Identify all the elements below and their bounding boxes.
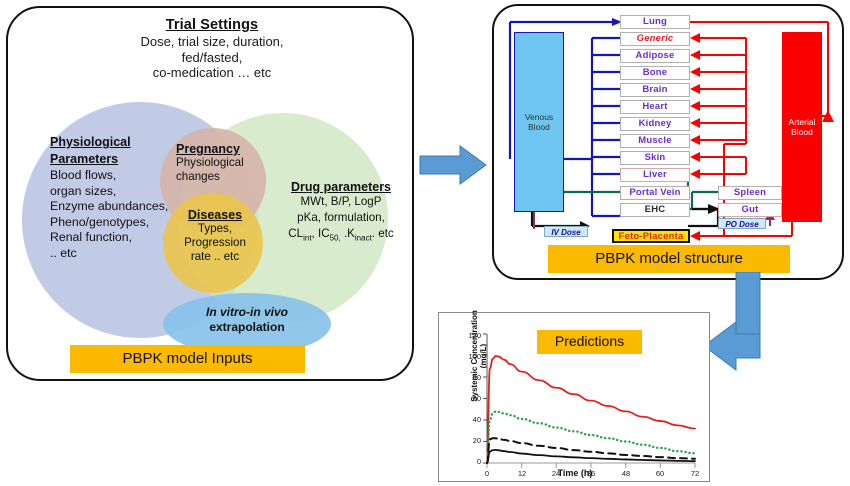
- physiological-item-1: organ sizes,: [50, 184, 200, 200]
- series-red-solid: [487, 356, 695, 463]
- predictions-caption: Predictions: [537, 330, 642, 354]
- clint-sub: int: [303, 233, 311, 242]
- pregnancy-header: Pregnancy: [176, 142, 266, 156]
- pregnancy-item-0: Physiological: [176, 156, 266, 170]
- ivive-line-1: In vitro-in vivo: [168, 305, 326, 320]
- pbpk-inputs-caption: PBPK model Inputs: [70, 345, 305, 373]
- venn-diagram: Physiological Parameters Blood flows, or…: [8, 8, 416, 383]
- venous-blood-compartment: Venous Blood: [514, 32, 564, 212]
- organ-box-lung[interactable]: Lung: [620, 15, 690, 29]
- kinact-sub: inact: [355, 233, 372, 242]
- diseases-text: Diseases Types, Progression rate .. etc: [171, 208, 259, 264]
- organ-box-kidney[interactable]: Kidney: [620, 117, 690, 131]
- iv-dose-box[interactable]: IV Dose: [544, 226, 588, 237]
- organ-box-liver[interactable]: Liver: [620, 168, 690, 182]
- kinact-text: .K: [341, 227, 355, 240]
- ic-sub: 50,: [330, 233, 341, 242]
- organ-box-bone[interactable]: Bone: [620, 66, 690, 80]
- organ-box-gut[interactable]: Gut: [718, 203, 782, 217]
- chart-x-axis-label: Time (h): [439, 468, 711, 478]
- organ-box-feto-placenta[interactable]: Feto-Placenta: [612, 229, 690, 243]
- ic-text: , IC: [312, 227, 330, 240]
- venous-blood-label: Venous Blood: [515, 112, 563, 132]
- drug-parameters-text: Drug parameters MWt, B/P, LogP pKa, form…: [270, 180, 412, 246]
- diseases-header: Diseases: [171, 208, 259, 222]
- pbpk-inputs-panel: Trial Settings Dose, trial size, duratio…: [6, 6, 414, 381]
- series-green-dotted: [487, 411, 695, 463]
- diseases-item-1: Progression: [171, 236, 259, 250]
- arterial-blood-compartment: Arterial Blood: [782, 32, 822, 222]
- diseases-item-2: rate .. etc: [171, 250, 259, 264]
- ivive-line-2: extrapolation: [168, 320, 326, 335]
- pbpk-structure-caption: PBPK model structure: [548, 245, 790, 273]
- pregnancy-text: Pregnancy Physiological changes: [176, 142, 266, 184]
- pregnancy-item-1: changes: [176, 170, 266, 184]
- arrow-inputs-to-structure-icon: [418, 143, 490, 187]
- arrow-structure-to-predictions-icon: [700, 272, 820, 402]
- drug-tail-text: . etc: [372, 227, 394, 240]
- organ-box-skin[interactable]: Skin: [620, 151, 690, 165]
- organ-box-adipose[interactable]: Adipose: [620, 49, 690, 63]
- organ-box-muscle[interactable]: Muscle: [620, 134, 690, 148]
- arterial-blood-label: Arterial Blood: [783, 117, 821, 137]
- drug-parameters-item-0: MWt, B/P, LogP: [270, 194, 412, 210]
- organ-box-portal-vein[interactable]: Portal Vein: [620, 186, 690, 200]
- organ-box-heart[interactable]: Heart: [620, 100, 690, 114]
- po-dose-box[interactable]: PO Dose: [718, 218, 766, 229]
- organ-box-spleen[interactable]: Spleen: [718, 186, 782, 200]
- diseases-item-0: Types,: [171, 222, 259, 236]
- clint-text: CL: [288, 227, 303, 240]
- organ-box-ehc[interactable]: EHC: [620, 203, 690, 217]
- pbpk-structure-diagram: Venous Blood Arterial Blood Lung Generic…: [492, 4, 844, 280]
- drug-parameters-item-2: CLint, IC50, .Kinact. etc: [270, 226, 412, 246]
- organ-box-brain[interactable]: Brain: [620, 83, 690, 97]
- organ-box-generic[interactable]: Generic: [620, 32, 690, 46]
- drug-parameters-header: Drug parameters: [270, 180, 412, 194]
- ivive-text: In vitro-in vivo extrapolation: [168, 305, 326, 335]
- drug-parameters-item-1: pKa, formulation,: [270, 210, 412, 226]
- series-black-dashed: [487, 438, 695, 463]
